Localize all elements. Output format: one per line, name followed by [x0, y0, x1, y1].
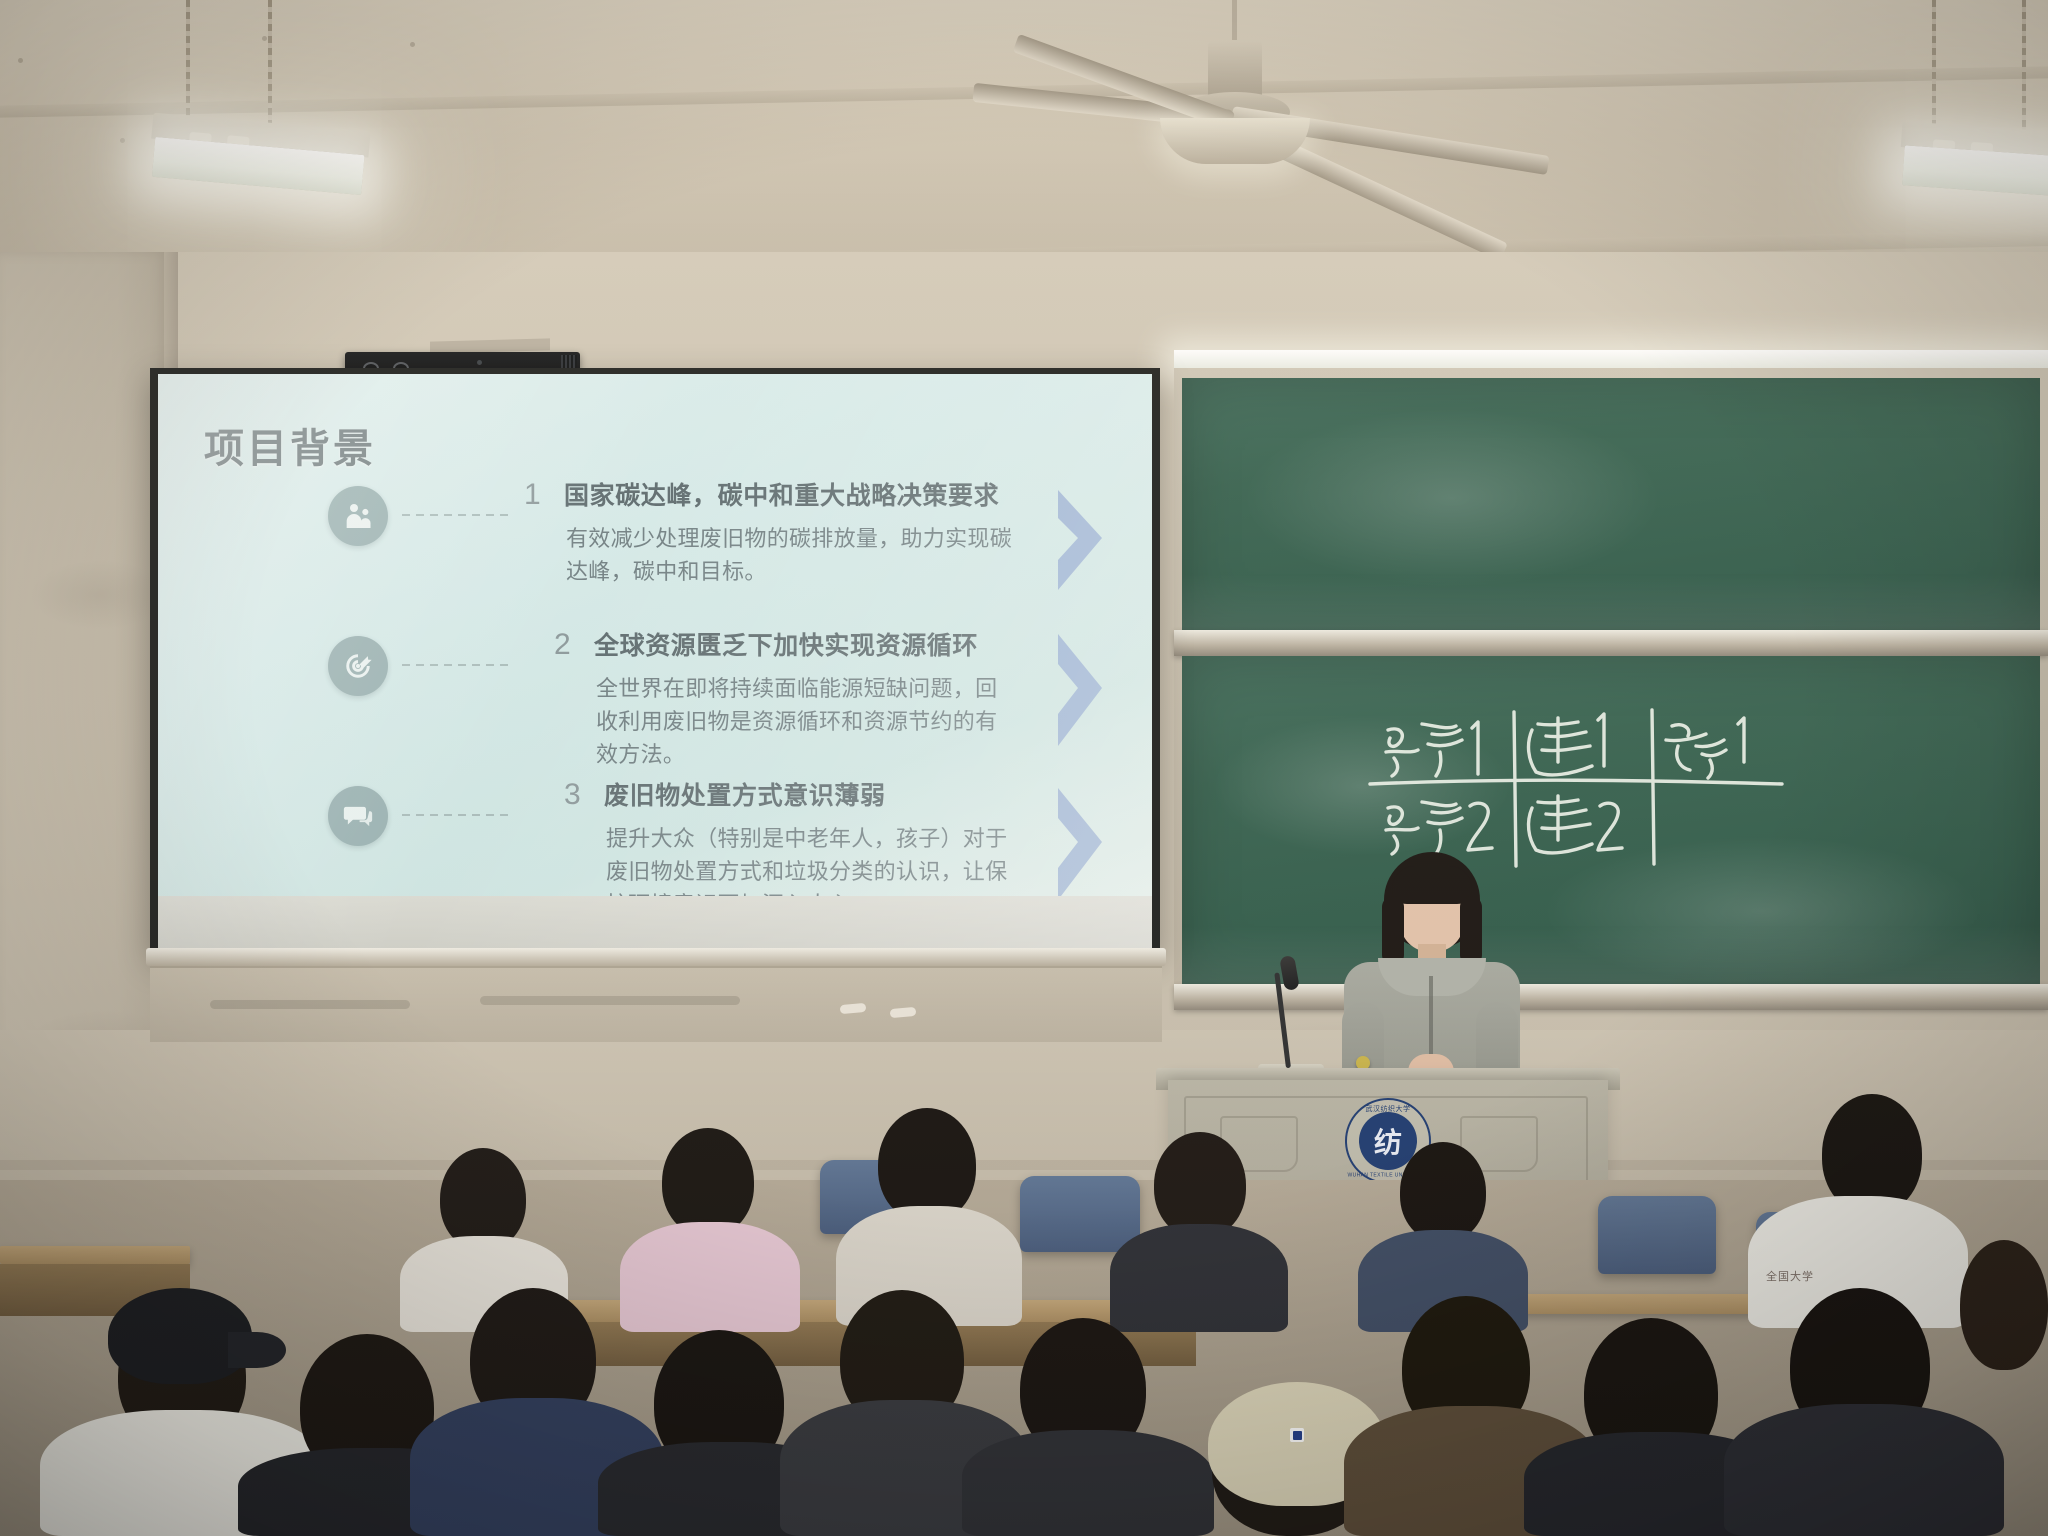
desk	[0, 1246, 190, 1264]
student-shoulders	[1724, 1404, 2004, 1536]
slide-item: 2 全球资源匮乏下加快实现资源循环 全世界在即将持续面临能源短缺问题，回收利用废…	[328, 630, 1132, 780]
screen-weight-bar	[146, 948, 1166, 966]
screen-shelf	[150, 966, 1162, 1042]
student-head	[1154, 1132, 1246, 1238]
cap-brim	[228, 1332, 286, 1368]
slide-item-text: 1 国家碳达峰，碳中和重大战略决策要求 有效减少处理废旧物的碳排放量，助力实现碳…	[524, 480, 1012, 588]
chevron-arrow-icon	[1052, 784, 1110, 904]
ceiling-speck	[262, 36, 267, 41]
lamp-chain	[2022, 0, 2026, 150]
baseboard	[0, 1160, 2048, 1170]
student-shoulders	[1110, 1224, 1288, 1332]
presenter-hair-side	[1382, 896, 1404, 966]
ceiling-speck	[410, 42, 415, 47]
screen-blank-strip	[158, 896, 1152, 954]
projection-screen-frame: 项目背景 1 国家碳达峰，碳中和重大战略决策要求	[150, 368, 1160, 954]
cap-logo-icon	[1290, 1428, 1304, 1442]
chalk-haze	[1242, 408, 1662, 588]
chalk-dust	[1182, 926, 2040, 986]
blackboard-upper	[1182, 378, 2040, 634]
shirt-print-text: 全国大学	[1766, 1268, 1814, 1284]
connector-dashes	[402, 814, 510, 816]
connector-dashes	[402, 514, 510, 516]
fan-light	[1160, 118, 1310, 164]
chalk-rail-lower	[1174, 984, 2048, 1010]
lecture-hall-photo: 项目背景 1 国家碳达峰，碳中和重大战略决策要求	[0, 0, 2048, 1536]
presenter-bangs	[1392, 866, 1472, 904]
item-body: 全世界在即将持续面临能源短缺问题，回收利用废旧物是资源循环和资源节约的有效方法。	[596, 672, 1012, 771]
chalk-rail-upper	[1174, 630, 2048, 656]
presentation-slide: 项目背景 1 国家碳达峰，碳中和重大战略决策要求	[158, 374, 1152, 954]
chevron-arrow-icon	[1052, 630, 1110, 750]
item-number: 3	[564, 780, 588, 810]
chalk-piece[interactable]	[890, 1007, 917, 1018]
item-number: 2	[554, 630, 578, 660]
student-head	[878, 1108, 976, 1222]
chalk-dust	[1182, 574, 2040, 634]
lamp-chain	[186, 0, 190, 124]
ceiling-speck	[18, 58, 23, 63]
student-head	[1960, 1240, 2048, 1370]
slide-items-list: 1 国家碳达峰，碳中和重大战略决策要求 有效减少处理废旧物的碳排放量，助力实现碳…	[328, 480, 1132, 950]
wall-smudge	[30, 560, 170, 630]
desk	[1510, 1294, 1770, 1314]
student-head	[662, 1128, 754, 1236]
item-heading: 废旧物处置方式意识薄弱	[604, 781, 886, 811]
item-heading: 全球资源匮乏下加快实现资源循环	[594, 631, 978, 661]
lamp-chain	[1932, 0, 1936, 130]
chevron-arrow-icon	[1052, 486, 1110, 594]
shelf-smear	[210, 1000, 410, 1009]
projector-led	[477, 360, 482, 365]
student-shoulders	[962, 1430, 1214, 1536]
blackboard-handwriting	[1366, 700, 1786, 870]
student-head	[440, 1148, 526, 1250]
student-head	[1400, 1142, 1486, 1242]
speech-bubbles-icon	[328, 786, 388, 846]
item-body: 有效减少处理废旧物的碳排放量，助力实现碳达峰，碳中和目标。	[566, 522, 1012, 588]
target-icon	[328, 636, 388, 696]
projection-screen: 项目背景 1 国家碳达峰，碳中和重大战略决策要求	[158, 374, 1152, 954]
emblem-text-cn: 武汉纺织大学	[1366, 1104, 1411, 1114]
shelf-smear	[480, 996, 740, 1005]
item-heading: 国家碳达峰，碳中和重大战略决策要求	[564, 481, 999, 511]
slide-item-text: 2 全球资源匮乏下加快实现资源循环 全世界在即将持续面临能源短缺问题，回收利用废…	[554, 630, 1012, 771]
connector-dashes	[402, 664, 510, 666]
presenter-hair-side	[1460, 896, 1482, 966]
ceiling-speck	[120, 138, 125, 143]
slide-title: 项目背景	[204, 416, 376, 474]
item-number: 1	[524, 480, 548, 510]
people-icon	[328, 486, 388, 546]
seat[interactable]	[1020, 1176, 1140, 1252]
seat[interactable]	[1598, 1196, 1716, 1274]
student-shoulders	[620, 1222, 800, 1332]
chalk-piece[interactable]	[840, 1003, 867, 1014]
slide-item: 1 国家碳达峰，碳中和重大战略决策要求 有效减少处理废旧物的碳排放量，助力实现碳…	[328, 480, 1132, 630]
